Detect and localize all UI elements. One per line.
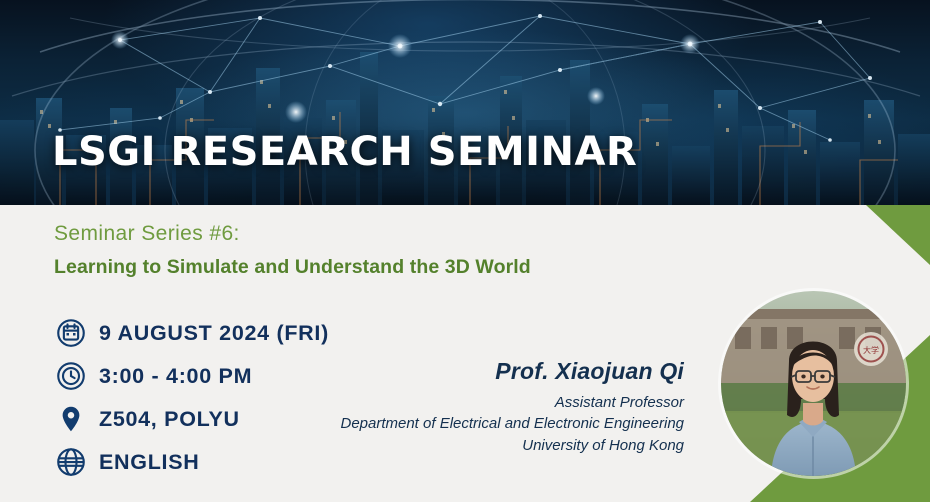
detail-row-date: 9 AUGUST 2024 (FRI) [54,313,329,353]
speaker-institution: University of Hong Kong [284,435,684,456]
talk-title: Learning to Simulate and Understand the … [54,256,531,279]
page-title: LSGI RESEARCH SEMINAR [52,129,637,175]
speaker-name: Prof. Xiaojuan Qi [284,358,684,385]
speaker-info: Prof. Xiaojuan Qi Assistant Professor De… [284,358,684,456]
series-label: Seminar Series #6: [54,222,240,246]
detail-text-language: ENGLISH [99,450,199,475]
svg-text:大学: 大学 [863,345,879,355]
calendar-icon [54,316,88,350]
speaker-department: Department of Electrical and Electronic … [284,413,684,434]
globe-icon [54,445,88,479]
seminar-poster: LSGI RESEARCH SEMINAR Seminar Series #6:… [0,0,930,502]
speaker-role: Assistant Professor [284,392,684,413]
speaker-portrait: 大学 [721,291,906,476]
detail-text-date: 9 AUGUST 2024 (FRI) [99,321,329,346]
clock-icon [54,359,88,393]
detail-text-venue: Z504, POLYU [99,407,240,432]
hero-banner: LSGI RESEARCH SEMINAR [0,0,930,205]
detail-text-time: 3:00 - 4:00 PM [99,364,252,389]
location-pin-icon [54,402,88,436]
